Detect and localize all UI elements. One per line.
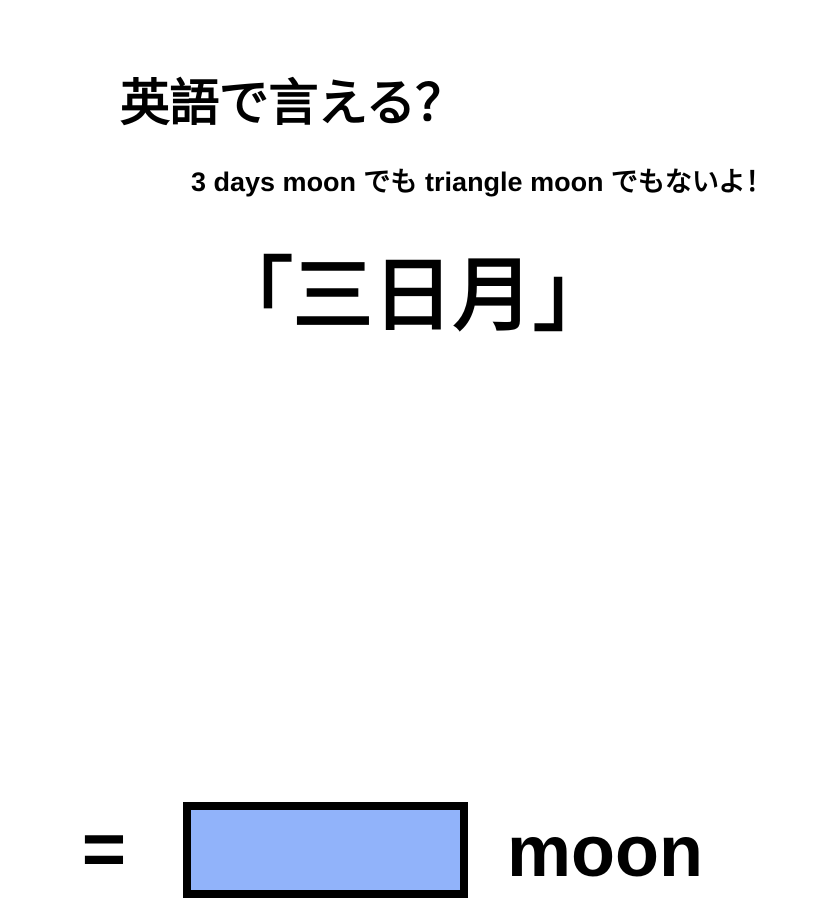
answer-word-moon: moon (507, 802, 703, 898)
quiz-slide: 英語で言える？ 3 days moon でも triangle moon でもな… (0, 0, 826, 620)
japanese-headword: 「三日月」 (0, 256, 826, 336)
answer-row: = moon (0, 398, 826, 508)
page-title: 英語で言える？ (120, 78, 465, 128)
answer-blank-box[interactable] (183, 802, 468, 898)
equals-sign: = (74, 802, 134, 898)
page-subtitle: 3 days moon でも triangle moon でもないよ！ (191, 169, 773, 196)
